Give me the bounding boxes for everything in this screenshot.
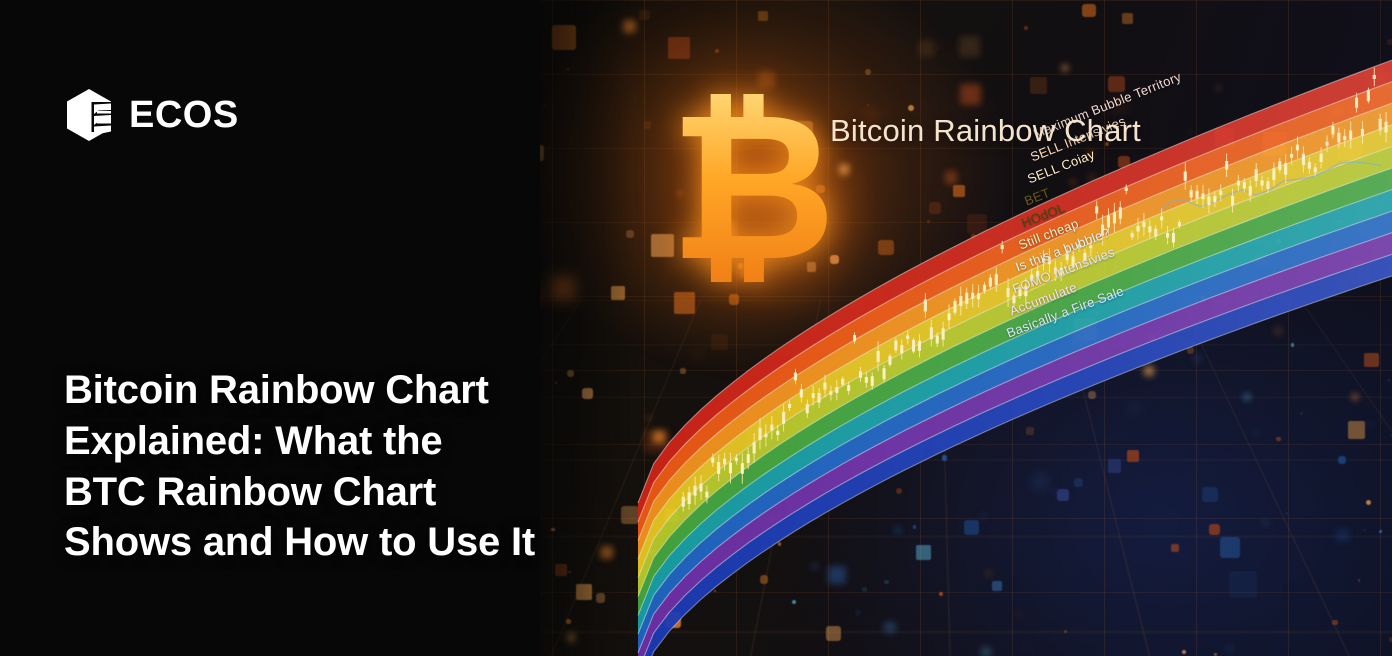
candle-body — [930, 327, 933, 339]
candle-body — [1355, 98, 1358, 108]
brand-logo[interactable]: ECOS — [64, 88, 239, 142]
candle-body — [883, 368, 886, 379]
candle-body — [1296, 145, 1299, 151]
candle-body — [782, 412, 785, 424]
candle-body — [753, 442, 756, 453]
candle-body — [1343, 136, 1346, 140]
candle-body — [953, 301, 956, 313]
candle-body — [729, 463, 732, 474]
candle-body — [717, 462, 720, 474]
candle-body — [759, 428, 762, 440]
candle-body — [699, 484, 702, 492]
candle-body — [764, 434, 767, 437]
candle-body — [829, 391, 832, 395]
candle-body — [865, 377, 868, 383]
candle-body — [1361, 129, 1364, 136]
candle-body — [818, 393, 821, 403]
candle-body — [1184, 172, 1187, 181]
page-title-line-2: Explained: What the — [64, 416, 644, 467]
ecos-cube-logo-icon — [64, 88, 114, 142]
candle-body — [1001, 245, 1004, 249]
candle-body — [1237, 181, 1240, 186]
candle-body — [776, 431, 779, 435]
candle-body — [1284, 163, 1287, 175]
candle-body — [841, 379, 844, 385]
candle-body — [835, 387, 838, 393]
candle-body — [1385, 122, 1388, 133]
page-title-line-1: Bitcoin Rainbow Chart — [64, 365, 644, 416]
candle-body — [1379, 119, 1382, 130]
candle-body — [1207, 197, 1210, 206]
candle-body — [1272, 168, 1275, 180]
candle-body — [1213, 196, 1216, 202]
candle-body — [983, 285, 986, 291]
candle-body — [1154, 229, 1157, 237]
candle-body — [1308, 162, 1311, 169]
candle-body — [942, 328, 945, 339]
candle-body — [1249, 186, 1252, 196]
candle-body — [747, 454, 750, 463]
candle-body — [1231, 196, 1234, 205]
candle-body — [1290, 154, 1293, 158]
candle-body — [900, 345, 903, 353]
candle-body — [888, 356, 891, 365]
candle-body — [723, 459, 726, 465]
candle-body — [959, 296, 962, 306]
candle-body — [682, 497, 685, 507]
candle-body — [971, 293, 974, 299]
candle-body — [1278, 161, 1281, 170]
candle-body — [1349, 131, 1352, 140]
candle-body — [871, 376, 874, 386]
candle-body — [1196, 191, 1199, 199]
candle-body — [1367, 90, 1370, 101]
candle-body — [1137, 226, 1140, 232]
candle-body — [1142, 222, 1145, 227]
candle-body — [688, 492, 691, 504]
candle-body — [859, 371, 862, 377]
candle-body — [918, 341, 921, 351]
candle-body — [989, 278, 992, 287]
page-title: Bitcoin Rainbow ChartExplained: What the… — [64, 365, 644, 568]
candle-body — [1178, 222, 1181, 226]
candle-body — [806, 404, 809, 413]
candle-body — [770, 425, 773, 431]
candle-body — [1166, 233, 1169, 238]
candle-body — [1160, 217, 1163, 221]
candle-body — [711, 458, 714, 463]
candle-body — [1172, 233, 1175, 243]
candle-body — [823, 383, 826, 390]
candle-body — [1095, 206, 1098, 213]
candle-body — [977, 293, 980, 299]
candle-body — [1119, 207, 1122, 218]
candle-body — [1131, 233, 1134, 237]
candle-body — [1125, 188, 1128, 191]
candle-body — [1314, 167, 1317, 172]
candle-body — [965, 293, 968, 304]
candle-body — [1320, 154, 1323, 162]
candle-body — [1373, 75, 1376, 79]
secondary-data-line — [1160, 162, 1382, 210]
candle-body — [1261, 180, 1264, 185]
page-title-line-3: BTC Rainbow Chart — [64, 467, 644, 518]
candle-body — [694, 486, 697, 496]
bitcoin-glyph-icon: ₿ — [669, 86, 830, 291]
candle-body — [894, 341, 897, 351]
hero-banner: ₿ Bitcoin Rainbow Chart Maximum Bubble T… — [0, 0, 1392, 656]
candle-body — [853, 335, 856, 341]
candle-body — [1201, 193, 1204, 199]
candle-body — [1331, 126, 1334, 134]
candle-body — [705, 492, 708, 498]
candle-body — [1266, 181, 1269, 189]
candle-body — [812, 393, 815, 398]
candle-body — [1190, 190, 1193, 197]
candle-body — [800, 389, 803, 397]
candle-body — [1302, 154, 1305, 165]
candle-body — [924, 300, 927, 312]
candle-body — [1326, 142, 1329, 146]
candle-body — [1219, 191, 1222, 195]
candle-body — [794, 373, 797, 381]
candle-body — [847, 385, 850, 391]
candle-body — [1113, 212, 1116, 223]
candle-body — [741, 463, 744, 474]
candle-body — [1148, 226, 1151, 232]
page-title-line-4: Shows and How to Use It — [64, 517, 644, 568]
candle-body — [912, 340, 915, 352]
candle-body — [995, 274, 998, 285]
candle-body — [1225, 161, 1228, 170]
candle-body — [936, 336, 939, 344]
candle-body — [1243, 182, 1246, 188]
candle-body — [788, 404, 791, 408]
candle-body — [948, 313, 951, 320]
candle-body — [1255, 169, 1258, 181]
candle-body — [1007, 288, 1010, 297]
candle-body — [906, 335, 909, 339]
brand-name: ECOS — [129, 96, 239, 134]
candle-body — [877, 351, 880, 362]
candle-body — [735, 458, 738, 461]
artwork-chart-title: Bitcoin Rainbow Chart — [830, 113, 1141, 149]
candle-body — [1337, 133, 1340, 143]
